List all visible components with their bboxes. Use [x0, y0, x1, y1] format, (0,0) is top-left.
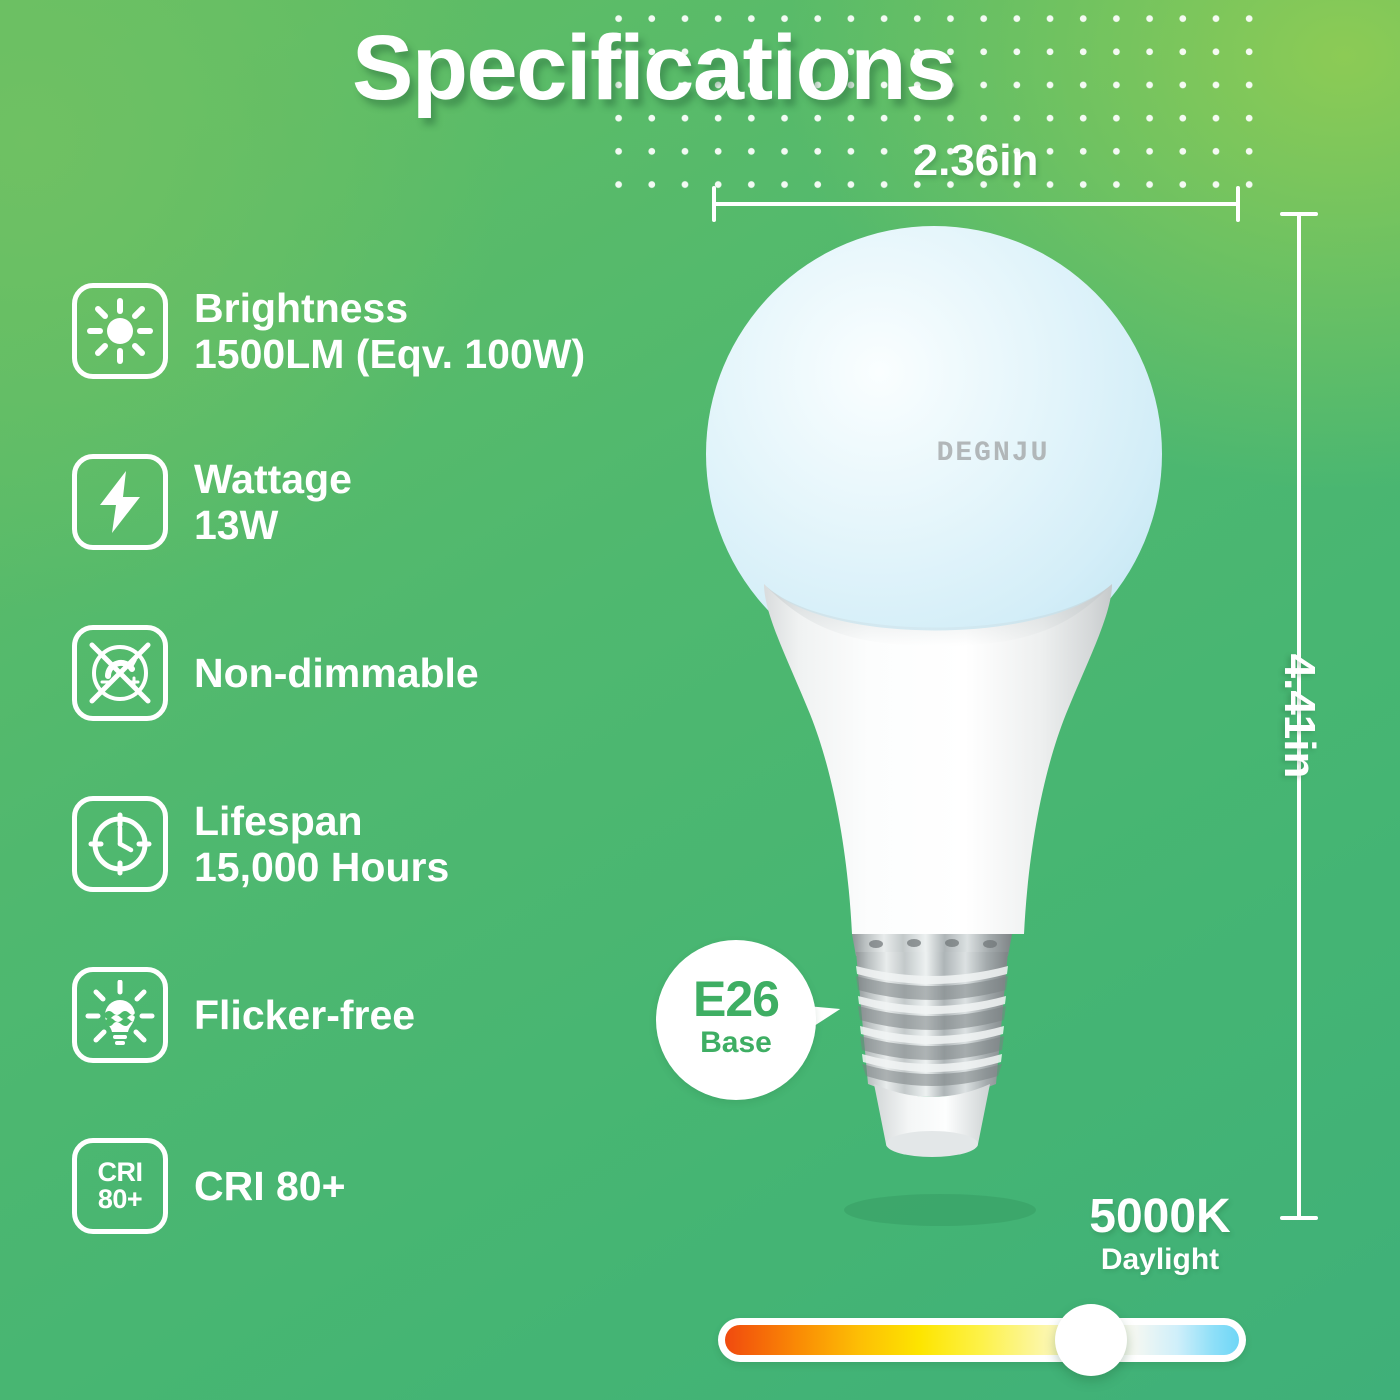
slider-track[interactable] — [718, 1318, 1246, 1362]
cri-badge-icon: CRI 80+ — [72, 1138, 168, 1234]
flicker-free-bulb-icon — [72, 967, 168, 1063]
feature-text-cri: CRI 80+ — [194, 1163, 346, 1209]
e26-base-callout: E26 Base — [656, 940, 856, 1100]
feature-text-wattage: Wattage 13W — [194, 456, 352, 549]
cri-icon-line1: CRI — [98, 1159, 143, 1186]
width-dimension-label: 2.36in — [712, 136, 1240, 186]
kelvin-value: 5000K — [1000, 1192, 1320, 1242]
sun-icon — [72, 283, 168, 379]
feature-text-lifespan: Lifespan 15,000 Hours — [194, 798, 449, 891]
cri-icon-text: CRI 80+ — [98, 1159, 143, 1213]
specifications-infographic: Specifications — [0, 0, 1400, 1400]
feature-row-brightness: Brightness 1500LM (Eqv. 100W) — [72, 283, 585, 379]
feature-text-non-dimmable: Non-dimmable — [194, 650, 479, 696]
feature-value: 15,000 Hours — [194, 844, 449, 890]
cri-icon-line2: 80+ — [98, 1186, 143, 1213]
non-dimmable-icon — [72, 625, 168, 721]
kelvin-name: Daylight — [1000, 1242, 1320, 1278]
feature-row-lifespan: Lifespan 15,000 Hours — [72, 796, 449, 892]
feature-text-brightness: Brightness 1500LM (Eqv. 100W) — [194, 285, 585, 378]
height-dimension-label: 4.41in — [1274, 654, 1324, 779]
feature-text-flicker-free: Flicker-free — [194, 992, 415, 1038]
height-dimension: 4.41in — [1264, 212, 1334, 1220]
feature-title: CRI 80+ — [194, 1163, 346, 1209]
feature-value: 1500LM (Eqv. 100W) — [194, 331, 585, 377]
base-label: Base — [656, 1024, 816, 1062]
feature-title: Wattage — [194, 456, 352, 502]
feature-value: 13W — [194, 502, 352, 548]
brand-text: DEGNJU — [937, 438, 1050, 469]
clock-icon — [72, 796, 168, 892]
brand-label: DEGNJU — [878, 438, 1108, 469]
feature-row-flicker-free: Flicker-free — [72, 967, 415, 1063]
slider-thumb[interactable] — [1055, 1304, 1127, 1376]
feature-title: Non-dimmable — [194, 650, 479, 696]
slider-gradient — [725, 1325, 1239, 1355]
lightning-bolt-icon — [72, 454, 168, 550]
page-title: Specifications — [352, 16, 955, 121]
color-temperature-slider[interactable] — [718, 1318, 1246, 1362]
feature-title: Lifespan — [194, 798, 449, 844]
feature-title: Flicker-free — [194, 992, 415, 1038]
callout-text: E26 Base — [656, 974, 816, 1062]
width-dimension: 2.36in — [712, 150, 1240, 212]
feature-title: Brightness — [194, 285, 585, 331]
feature-row-wattage: Wattage 13W — [72, 454, 352, 550]
color-temperature-readout: 5000K Daylight — [1000, 1192, 1320, 1278]
feature-row-non-dimmable: Non-dimmable — [72, 625, 479, 721]
feature-row-cri: CRI 80+ CRI 80+ — [72, 1138, 346, 1234]
base-code: E26 — [656, 974, 816, 1024]
width-dim-line — [712, 202, 1240, 206]
